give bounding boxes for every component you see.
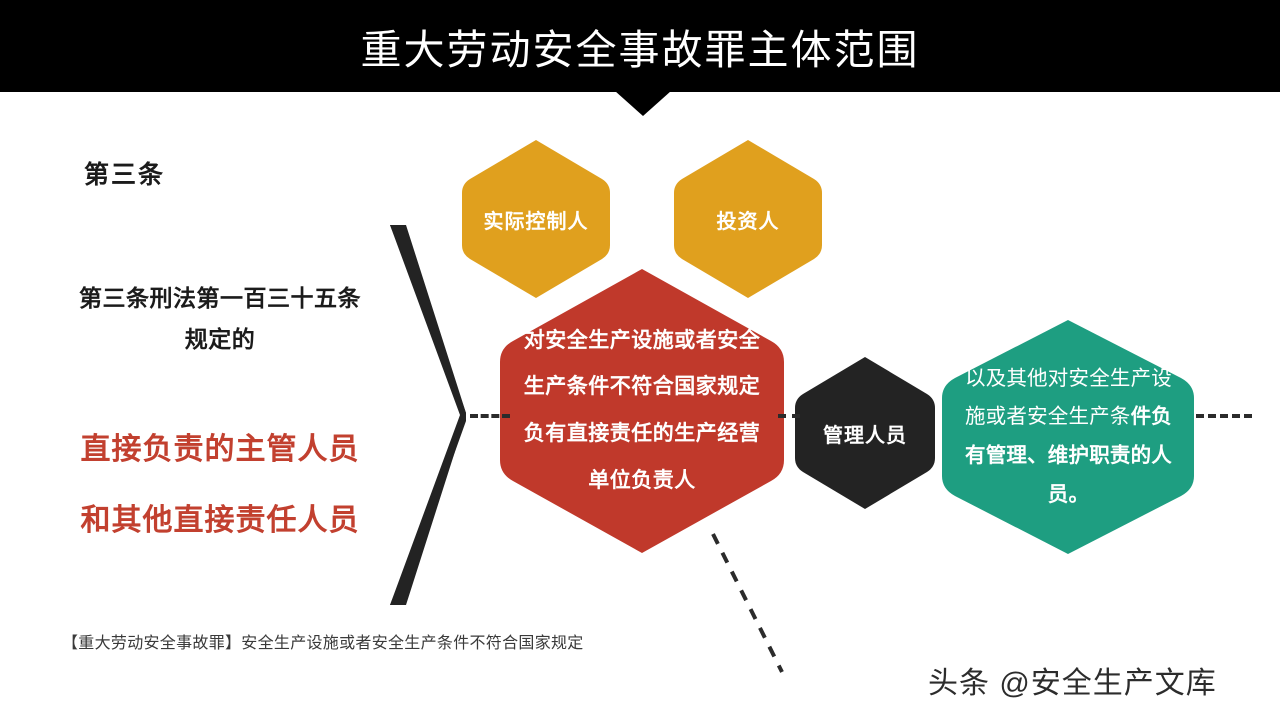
article-label: 第三条	[84, 155, 165, 191]
slide-canvas: 重大劳动安全事故罪主体范围 第三条 第三条刑法第一百三十五条 规定的 直接负责的…	[0, 0, 1280, 720]
header-notch-icon	[615, 91, 671, 116]
node-actual-controller-label: 实际控制人	[460, 205, 612, 234]
watermark-text: 头条 @安全生产文库	[928, 658, 1217, 702]
node-other-duty-label: 以及其他对安全生产设施或者安全生产条件负有管理、维护职责的人员。	[941, 360, 1196, 514]
chevron-right-bracket-icon	[386, 225, 466, 605]
node-responsible-person-label: 对安全生产设施或者安全生产条件不符合国家规定负有直接责任的生产经营单位负责人	[497, 318, 787, 504]
statute-line-2: 规定的	[36, 319, 404, 360]
statute-text: 第三条刑法第一百三十五条 规定的	[36, 278, 404, 360]
node-management-label: 管理人员	[793, 419, 937, 448]
statute-line-1: 第三条刑法第一百三十五条	[36, 278, 404, 319]
node-investor-label: 投资人	[672, 205, 824, 234]
connector-dash-right	[1196, 414, 1252, 418]
footnote-text: 【重大劳动安全事故罪】安全生产设施或者安全生产条件不符合国家规定	[62, 629, 584, 653]
connector-dash-diagonal	[700, 528, 800, 678]
highlight-line-2: 和其他直接责任人员	[36, 486, 404, 557]
highlight-line-1: 直接负责的主管人员	[36, 415, 404, 486]
node-responsible-person[interactable]: 对安全生产设施或者安全生产条件不符合国家规定负有直接责任的生产经营单位负责人	[497, 266, 787, 556]
node-management[interactable]: 管理人员	[793, 355, 937, 511]
page-title: 重大劳动安全事故罪主体范围	[0, 0, 1280, 92]
highlight-text: 直接负责的主管人员 和其他直接责任人员	[36, 415, 404, 556]
node-other-duty[interactable]: 以及其他对安全生产设施或者安全生产条件负有管理、维护职责的人员。	[941, 318, 1196, 556]
